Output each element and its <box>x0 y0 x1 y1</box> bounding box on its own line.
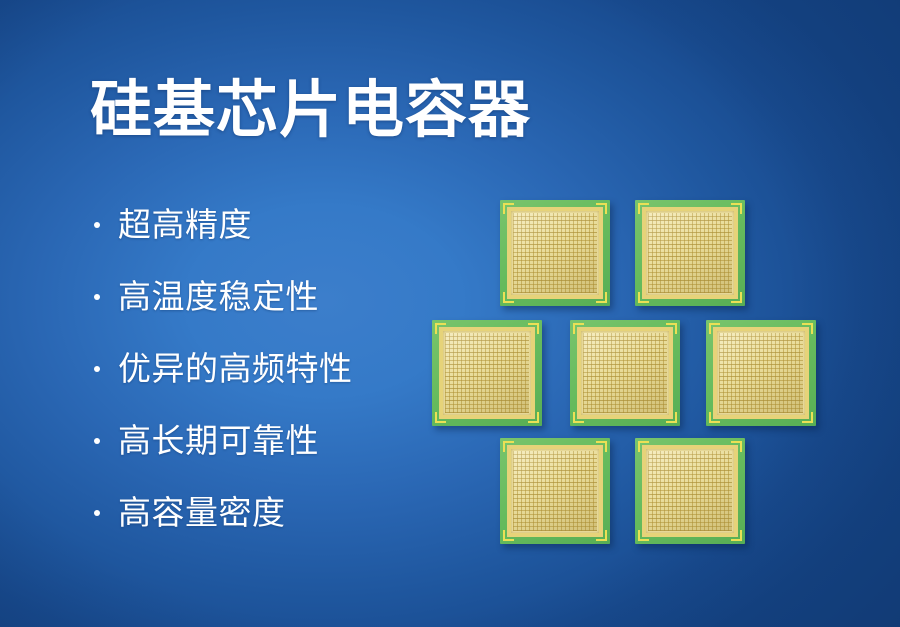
bullet-dot-icon <box>94 438 100 444</box>
text-column: 硅基芯片电容器 超高精度 高温度稳定性 优异的高频特性 高长期可靠性 高容量密度 <box>0 0 470 627</box>
feature-label: 超高精度 <box>118 205 252 245</box>
silicon-chip-capacitor <box>500 438 610 544</box>
chip-gold-frame <box>507 207 603 299</box>
list-item: 高温度稳定性 <box>92 261 452 333</box>
bullet-dot-icon <box>94 294 100 300</box>
feature-label: 优异的高频特性 <box>118 349 353 389</box>
chip-gold-frame <box>577 327 673 419</box>
feature-list: 超高精度 高温度稳定性 优异的高频特性 高长期可靠性 高容量密度 <box>92 189 452 549</box>
feature-label: 高温度稳定性 <box>118 277 319 317</box>
silicon-chip-capacitor <box>432 320 542 426</box>
chip-electrode-mesh <box>583 333 667 413</box>
list-item: 优异的高频特性 <box>92 333 452 405</box>
chip-electrode-mesh <box>513 213 597 293</box>
silicon-chip-capacitor <box>570 320 680 426</box>
chip-gold-frame <box>713 327 809 419</box>
silicon-chip-capacitor <box>706 320 816 426</box>
list-item: 超高精度 <box>92 189 452 261</box>
silicon-chip-capacitor <box>500 200 610 306</box>
chip-electrode-mesh <box>648 451 732 531</box>
list-item: 高容量密度 <box>92 477 452 549</box>
list-item: 高长期可靠性 <box>92 405 452 477</box>
chip-gold-frame <box>642 445 738 537</box>
chip-gallery <box>420 180 890 560</box>
chip-electrode-mesh <box>648 213 732 293</box>
chip-gold-frame <box>642 207 738 299</box>
slide-canvas: 硅基芯片电容器 超高精度 高温度稳定性 优异的高频特性 高长期可靠性 高容量密度 <box>0 0 900 627</box>
chip-gold-frame <box>507 445 603 537</box>
silicon-chip-capacitor <box>635 200 745 306</box>
bullet-dot-icon <box>94 222 100 228</box>
chip-gold-frame <box>439 327 535 419</box>
feature-label: 高长期可靠性 <box>118 421 319 461</box>
silicon-chip-capacitor <box>635 438 745 544</box>
feature-label: 高容量密度 <box>118 493 286 533</box>
chip-electrode-mesh <box>719 333 803 413</box>
chip-electrode-mesh <box>513 451 597 531</box>
chip-electrode-mesh <box>445 333 529 413</box>
bullet-dot-icon <box>94 366 100 372</box>
bullet-dot-icon <box>94 510 100 516</box>
page-title: 硅基芯片电容器 <box>90 73 531 149</box>
